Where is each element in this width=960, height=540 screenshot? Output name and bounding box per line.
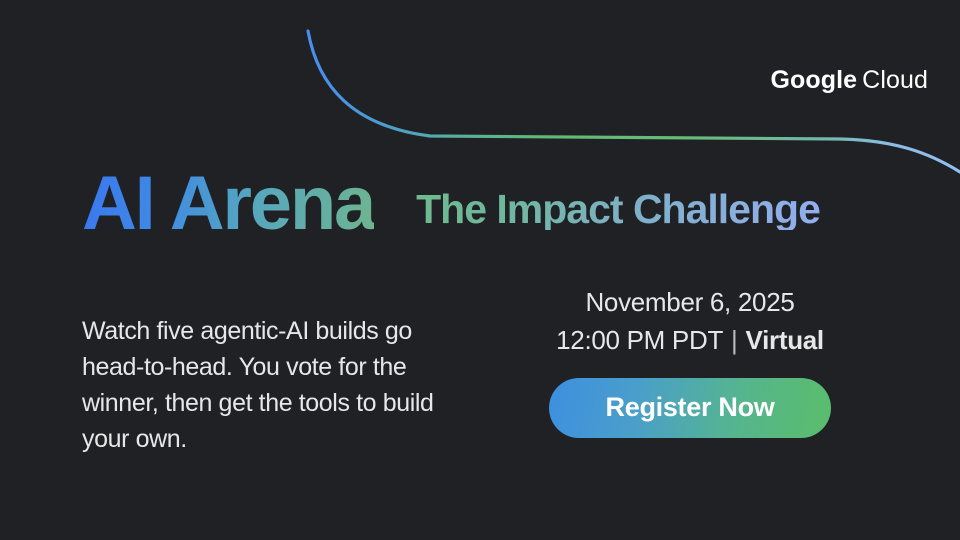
event-time: 12:00 PM PDT xyxy=(556,325,723,355)
cta-container: Register Now xyxy=(490,378,890,438)
event-time-venue: 12:00 PM PDT|Virtual xyxy=(490,324,890,358)
brand-name-cloud: Cloud xyxy=(862,66,928,94)
page-title: AI Arena xyxy=(82,166,374,242)
event-venue: Virtual xyxy=(746,325,824,355)
event-details: November 6, 2025 12:00 PM PDT|Virtual Re… xyxy=(490,286,890,438)
event-promo-banner: GoogleCloud AI Arena The Impact Challeng… xyxy=(0,0,960,540)
register-now-button[interactable]: Register Now xyxy=(549,378,831,438)
google-cloud-logo: GoogleCloud xyxy=(770,68,928,93)
event-date: November 6, 2025 xyxy=(490,286,890,320)
headline-row: AI Arena The Impact Challenge xyxy=(82,166,820,242)
brand-name-google: Google xyxy=(770,66,857,94)
description-text: Watch five agentic-AI builds go head-to-… xyxy=(82,313,474,457)
meta-separator: | xyxy=(731,324,737,358)
page-subtitle: The Impact Challenge xyxy=(416,189,820,230)
